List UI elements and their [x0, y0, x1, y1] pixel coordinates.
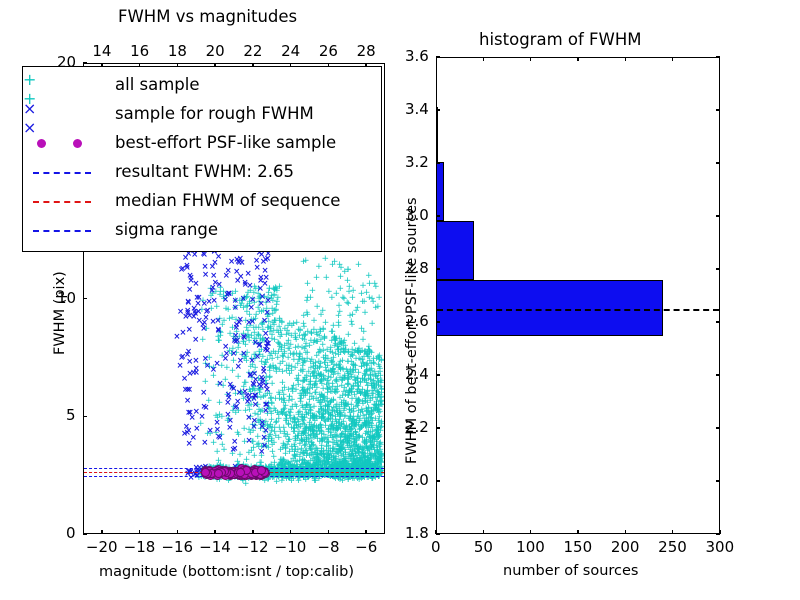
- xticklabel-top: 20: [206, 42, 225, 60]
- scatter-point-rough: ×: [261, 434, 268, 443]
- scatter-point-rough: ×: [241, 334, 248, 343]
- scatter-point-all: +: [298, 344, 306, 353]
- yticklabel-left: 0: [66, 524, 76, 542]
- yticklabel-left: 5: [66, 406, 76, 424]
- scatter-point-all: +: [335, 312, 343, 321]
- scatter-point-all: +: [301, 425, 309, 434]
- scatter-point-all: +: [340, 346, 348, 355]
- hist-ytick-right: [716, 268, 720, 269]
- scatter-point-all: +: [315, 263, 323, 272]
- scatter-point-rough: ×: [186, 326, 193, 335]
- scatter-point-rough: ×: [184, 386, 191, 395]
- scatter-point-rough: ×: [215, 253, 222, 262]
- legend-box: ++all sample××sample for rough FWHMbest-…: [22, 66, 382, 252]
- scatter-point-all: +: [355, 261, 363, 270]
- scatter-point-rough: ×: [216, 281, 223, 290]
- scatter-point-rough: ×: [227, 417, 234, 426]
- scatter-point-rough: ×: [201, 300, 208, 309]
- scatter-point-all: +: [213, 448, 221, 457]
- scatter-point-all: +: [282, 331, 290, 340]
- scatter-point-rough: ×: [183, 423, 190, 432]
- scatter-point-all: +: [319, 325, 327, 334]
- scatter-point-all: +: [323, 346, 331, 355]
- scatter-point-all: +: [300, 320, 308, 329]
- scatter-point-rough: ×: [198, 413, 205, 422]
- histogram-data-area: [437, 58, 719, 533]
- scatter-point-all: +: [367, 443, 375, 452]
- legend-row: ××sample for rough FWHM: [23, 99, 381, 128]
- scatter-point-all: +: [310, 441, 318, 450]
- xticklabel-top: 24: [281, 42, 300, 60]
- xticklabel-bottom: −10: [275, 538, 307, 556]
- scatter-point-all: +: [286, 448, 294, 457]
- scatter-point-all: +: [273, 298, 281, 307]
- scatter-point-rough: ×: [261, 280, 268, 289]
- scatter-point-rough: ×: [185, 409, 192, 418]
- scatter-point-all: +: [358, 424, 366, 433]
- scatter-point-all: +: [345, 331, 353, 340]
- scatter-point-rough: ×: [264, 347, 271, 356]
- scatter-point-all: +: [277, 446, 285, 455]
- hist-yticklabel: 2.6: [405, 312, 429, 330]
- scatter-point-all: +: [301, 374, 309, 383]
- legend-label: resultant FWHM: 2.65: [115, 162, 294, 181]
- scatter-point-all: +: [276, 366, 284, 375]
- scatter-point-rough: ×: [214, 317, 221, 326]
- scatter-point-rough: ×: [199, 321, 206, 330]
- scatter-point-all: +: [290, 382, 298, 391]
- scatter-point-rough: ×: [245, 270, 252, 279]
- scatter-point-all: +: [316, 346, 324, 355]
- scatter-point-rough: ×: [192, 280, 199, 289]
- hist-xtick-top: [625, 57, 626, 61]
- legend-marker-dot: [23, 128, 115, 157]
- histogram-bar: [437, 162, 444, 221]
- hist-yticklabel: 2.2: [405, 418, 429, 436]
- scatter-point-rough: ×: [236, 259, 243, 268]
- xticklabel-bottom: −16: [161, 538, 193, 556]
- scatter-point-all: +: [317, 360, 325, 369]
- hist-xticklabel: 0: [431, 538, 441, 556]
- scatter-point-rough: ×: [181, 375, 188, 384]
- legend-label: median FHWM of sequence: [115, 191, 340, 210]
- xtick-bottom: [139, 530, 140, 534]
- scatter-point-rough: ×: [211, 297, 218, 306]
- xtick-bottom: [365, 530, 366, 534]
- scatter-point-all: +: [350, 362, 358, 371]
- hist-ytick: [436, 162, 440, 163]
- scatter-point-rough: ×: [240, 350, 247, 359]
- scatter-point-all: +: [318, 430, 326, 439]
- scatter-point-rough: ×: [193, 425, 200, 434]
- scatter-point-all: +: [344, 277, 352, 286]
- scatter-point-rough: ×: [251, 392, 258, 401]
- scatter-point-all: +: [359, 336, 367, 345]
- scatter-point-rough: ×: [184, 397, 191, 406]
- scatter-point-all: +: [345, 444, 353, 453]
- legend-label: best-effort PSF-like sample: [115, 133, 336, 152]
- scatter-point-all: +: [371, 368, 379, 377]
- hist-xtick: [672, 530, 673, 534]
- scatter-point-all: +: [324, 377, 332, 386]
- xticklabel-top: 16: [130, 42, 149, 60]
- legend-row: resultant FWHM: 2.65: [23, 157, 381, 186]
- scatter-point-rough: ×: [225, 267, 232, 276]
- scatter-point-all: +: [368, 320, 376, 329]
- scatter-point-rough: ×: [190, 313, 197, 322]
- yticklabel-left: 10: [57, 289, 76, 307]
- legend-label: all sample: [115, 75, 200, 94]
- right-panel-title: histogram of FWHM: [479, 30, 642, 49]
- hist-ytick: [436, 268, 440, 269]
- scatter-point-all: +: [202, 378, 210, 387]
- legend-label: sample for rough FWHM: [115, 104, 314, 123]
- xticklabel-bottom: −20: [86, 538, 118, 556]
- scatter-point-all: +: [199, 336, 207, 345]
- histogram-bar: [437, 107, 438, 162]
- scatter-point-all: +: [378, 420, 384, 429]
- xticklabel-top: 26: [319, 42, 338, 60]
- scatter-point-all: +: [216, 399, 224, 408]
- scatter-point-rough: ×: [192, 336, 199, 345]
- scatter-point-all: +: [371, 280, 379, 289]
- scatter-point-all: +: [335, 302, 343, 311]
- hist-ytick-right: [716, 533, 720, 534]
- hist-xticklabel: 100: [516, 538, 545, 556]
- hist-xticklabel: 150: [564, 538, 593, 556]
- scatter-point-all: +: [368, 424, 376, 433]
- scatter-point-rough: ×: [201, 263, 208, 272]
- scatter-point-all: +: [337, 264, 345, 273]
- scatter-point-all: +: [280, 395, 288, 404]
- right-xaxis-label: number of sources: [503, 563, 639, 579]
- hist-ytick-right: [716, 480, 720, 481]
- hist-ytick: [436, 533, 440, 534]
- scatter-point-rough: ×: [264, 309, 271, 318]
- scatter-point-rough: ×: [215, 326, 222, 335]
- scatter-point-all: +: [301, 438, 309, 447]
- scatter-point-all: +: [341, 412, 349, 421]
- xtick-bottom: [177, 530, 178, 534]
- hist-xtick: [483, 530, 484, 534]
- hist-yticklabel: 3.4: [405, 100, 429, 118]
- left-panel-title: FWHM vs magnitudes: [118, 7, 297, 26]
- scatter-point-all: +: [288, 367, 296, 376]
- scatter-point-all: +: [348, 321, 356, 330]
- scatter-point-psf: [214, 469, 223, 478]
- ytick-left: [83, 298, 87, 299]
- scatter-point-rough: ×: [200, 389, 207, 398]
- scatter-point-rough: ×: [213, 360, 220, 369]
- scatter-point-all: +: [345, 288, 353, 297]
- scatter-point-all: +: [337, 285, 345, 294]
- scatter-point-all: +: [240, 425, 248, 434]
- legend-marker-dashed-blue: [23, 157, 115, 186]
- scatter-point-rough: ×: [210, 272, 217, 281]
- scatter-point-rough: ×: [240, 295, 247, 304]
- scatter-point-rough: ×: [248, 304, 255, 313]
- dashed-line-icon: [33, 201, 91, 203]
- scatter-point-rough: ×: [184, 351, 191, 360]
- hist-yticklabel: 2.0: [405, 471, 429, 489]
- scatter-point-rough: ×: [259, 376, 266, 385]
- scatter-point-all: +: [343, 401, 351, 410]
- xtick-bottom: [328, 530, 329, 534]
- scatter-point-all: +: [336, 364, 344, 373]
- scatter-point-rough: ×: [209, 263, 216, 272]
- hist-ytick: [436, 374, 440, 375]
- xticklabel-bottom: −8: [317, 538, 339, 556]
- scatter-point-rough: ×: [194, 294, 201, 303]
- scatter-point-rough: ×: [252, 401, 259, 410]
- dashed-line-icon: [33, 172, 91, 174]
- hist-resultant-fwhm-line: [437, 309, 719, 311]
- scatter-point-all: +: [302, 331, 310, 340]
- scatter-point-rough: ×: [251, 417, 258, 426]
- scatter-point-rough: ×: [201, 403, 208, 412]
- ytick-left: [83, 62, 87, 63]
- legend-row: sigma range: [23, 215, 381, 244]
- scatter-point-psf: [201, 468, 210, 477]
- scatter-point-rough: ×: [183, 262, 190, 271]
- scatter-point-rough: ×: [207, 427, 214, 436]
- hist-ytick: [436, 427, 440, 428]
- scatter-point-rough: ×: [260, 368, 267, 377]
- scatter-point-rough: ×: [249, 318, 256, 327]
- scatter-point-all: +: [328, 328, 336, 337]
- scatter-point-all: +: [267, 363, 275, 372]
- scatter-point-all: +: [299, 390, 307, 399]
- scatter-point-all: +: [335, 322, 343, 331]
- left-xaxis-label: magnitude (bottom:isnt / top:calib): [99, 564, 354, 580]
- scatter-point-all: +: [299, 355, 307, 364]
- scatter-point-all: +: [300, 258, 308, 267]
- scatter-point-all: +: [300, 312, 308, 321]
- scatter-point-all: +: [312, 378, 320, 387]
- hist-yticklabel: 2.8: [405, 259, 429, 277]
- xticklabel-bottom: −14: [199, 538, 231, 556]
- histogram-bar: [437, 221, 474, 280]
- scatter-point-rough: ×: [201, 439, 208, 448]
- xticklabel-top: 28: [357, 42, 376, 60]
- scatter-point-rough: ×: [217, 380, 224, 389]
- scatter-point-rough: ×: [190, 305, 197, 314]
- hist-xticklabel: 250: [658, 538, 687, 556]
- scatter-point-rough: ×: [201, 251, 208, 260]
- scatter-point-all: +: [365, 294, 373, 303]
- scatter-point-rough: ×: [216, 434, 223, 443]
- legend-marker-dashdot-blue: [23, 215, 115, 244]
- dot-icon: [73, 139, 82, 148]
- scatter-point-all: +: [375, 294, 383, 303]
- hist-ytick: [436, 321, 440, 322]
- dashdot-line-icon: [33, 230, 91, 232]
- legend-row: ++all sample: [23, 70, 381, 99]
- hist-ytick: [436, 109, 440, 110]
- scatter-point-all: +: [358, 449, 366, 458]
- scatter-point-rough: ×: [179, 329, 186, 338]
- scatter-point-all: +: [328, 407, 336, 416]
- hist-xtick: [625, 530, 626, 534]
- scatter-point-all: +: [328, 388, 336, 397]
- scatter-point-all: +: [344, 266, 352, 275]
- xtick-bottom: [101, 530, 102, 534]
- scatter-point-rough: ×: [262, 407, 269, 416]
- xticklabel-bottom: −6: [355, 538, 377, 556]
- hist-ytick: [436, 56, 440, 57]
- scatter-point-rough: ×: [246, 282, 253, 291]
- scatter-point-rough: ×: [261, 442, 268, 451]
- hist-ytick-right: [716, 427, 720, 428]
- scatter-point-all: +: [321, 335, 329, 344]
- hist-ytick-right: [716, 162, 720, 163]
- xticklabel-bottom: −18: [124, 538, 156, 556]
- scatter-point-all: +: [350, 405, 358, 414]
- dot-icon: [37, 139, 46, 148]
- left-yaxis-label: FWHM (pix): [52, 271, 68, 355]
- scatter-point-all: +: [279, 379, 287, 388]
- scatter-point-rough: ×: [177, 308, 184, 317]
- hist-ytick-right: [716, 109, 720, 110]
- scatter-point-all: +: [275, 434, 283, 443]
- scatter-point-rough: ×: [192, 357, 199, 366]
- hist-xtick-top: [672, 57, 673, 61]
- legend-label: sigma range: [115, 220, 218, 239]
- scatter-point-rough: ×: [202, 355, 209, 364]
- cross-icon: ×: [23, 99, 115, 118]
- hist-yticklabel: 3.0: [405, 206, 429, 224]
- scatter-point-all: +: [323, 274, 331, 283]
- hist-yticklabel: 2.4: [405, 365, 429, 383]
- xticklabel-bottom: −12: [237, 538, 269, 556]
- scatter-point-all: +: [282, 417, 290, 426]
- scatter-point-rough: ×: [236, 319, 243, 328]
- hist-xtick: [530, 530, 531, 534]
- scatter-point-rough: ×: [260, 258, 267, 267]
- legend-marker-cross: ××: [23, 99, 115, 128]
- scatter-point-all: +: [290, 414, 298, 423]
- hist-xtick-top: [530, 57, 531, 61]
- scatter-point-all: +: [310, 451, 318, 460]
- scatter-point-psf: [257, 466, 266, 475]
- scatter-point-all: +: [363, 388, 371, 397]
- ytick-left: [83, 416, 87, 417]
- scatter-point-rough: ×: [232, 297, 239, 306]
- plus-icon: +: [23, 70, 115, 89]
- scatter-point-all: +: [276, 315, 284, 324]
- scatter-point-rough: ×: [265, 297, 272, 306]
- scatter-point-all: +: [361, 309, 369, 318]
- scatter-point-all: +: [276, 341, 284, 350]
- hist-yticklabel: 3.2: [405, 153, 429, 171]
- scatter-point-all: +: [304, 294, 312, 303]
- xticklabel-top: 18: [168, 42, 187, 60]
- legend-marker-dashed-red: [23, 186, 115, 215]
- hist-ytick: [436, 215, 440, 216]
- hist-xtick-top: [483, 57, 484, 61]
- legend-row: best-effort PSF-like sample: [23, 128, 381, 157]
- xticklabel-top: 22: [243, 42, 262, 60]
- hist-ytick-right: [716, 321, 720, 322]
- hist-yticklabel: 3.6: [405, 47, 429, 65]
- scatter-point-rough: ×: [209, 287, 216, 296]
- hist-xtick-top: [577, 57, 578, 61]
- scatter-point-all: +: [309, 412, 317, 421]
- scatter-point-all: +: [357, 390, 365, 399]
- scatter-point-all: +: [326, 399, 334, 408]
- xtick-bottom: [214, 530, 215, 534]
- scatter-point-all: +: [333, 437, 341, 446]
- hist-xticklabel: 300: [706, 538, 735, 556]
- scatter-point-rough: ×: [259, 419, 266, 428]
- xtick-bottom: [252, 530, 253, 534]
- scatter-point-all: +: [318, 406, 326, 415]
- scatter-point-all: +: [272, 284, 280, 293]
- scatter-point-all: +: [336, 422, 344, 431]
- scatter-point-all: +: [285, 436, 293, 445]
- hist-xtick: [577, 530, 578, 534]
- scatter-point-all: +: [313, 274, 321, 283]
- scatter-point-all: +: [328, 294, 336, 303]
- scatter-point-all: +: [299, 450, 307, 459]
- scatter-point-all: +: [378, 401, 384, 410]
- xtick-bottom: [290, 530, 291, 534]
- hist-ytick: [436, 480, 440, 481]
- scatter-point-all: +: [279, 358, 287, 367]
- figure-canvas: FWHM vs magnitudes +++++++++++++++++++++…: [0, 0, 800, 600]
- legend-marker-plus: ++: [23, 70, 115, 99]
- hist-xticklabel: 200: [611, 538, 640, 556]
- scatter-point-rough: ×: [246, 437, 253, 446]
- hist-xticklabel: 50: [474, 538, 493, 556]
- scatter-point-all: +: [370, 404, 378, 413]
- legend-row: median FHWM of sequence: [23, 186, 381, 215]
- scatter-point-rough: ×: [264, 386, 271, 395]
- scatter-point-all: +: [280, 406, 288, 415]
- scatter-point-rough: ×: [251, 370, 258, 379]
- scatter-point-all: +: [358, 363, 366, 372]
- scatter-point-rough: ×: [254, 353, 261, 362]
- hist-ytick-right: [716, 374, 720, 375]
- hist-ytick-right: [716, 215, 720, 216]
- scatter-point-rough: ×: [190, 369, 197, 378]
- scatter-point-rough: ×: [261, 317, 268, 326]
- scatter-point-all: +: [272, 419, 280, 428]
- scatter-point-all: +: [339, 374, 347, 383]
- scatter-point-all: +: [298, 402, 306, 411]
- ytick-left: [83, 533, 87, 534]
- hist-ytick-right: [716, 56, 720, 57]
- scatter-point-rough: ×: [223, 350, 230, 359]
- hist-yticklabel: 1.8: [405, 524, 429, 542]
- scatter-point-rough: ×: [230, 446, 237, 455]
- scatter-point-rough: ×: [234, 398, 241, 407]
- xticklabel-top: 14: [92, 42, 111, 60]
